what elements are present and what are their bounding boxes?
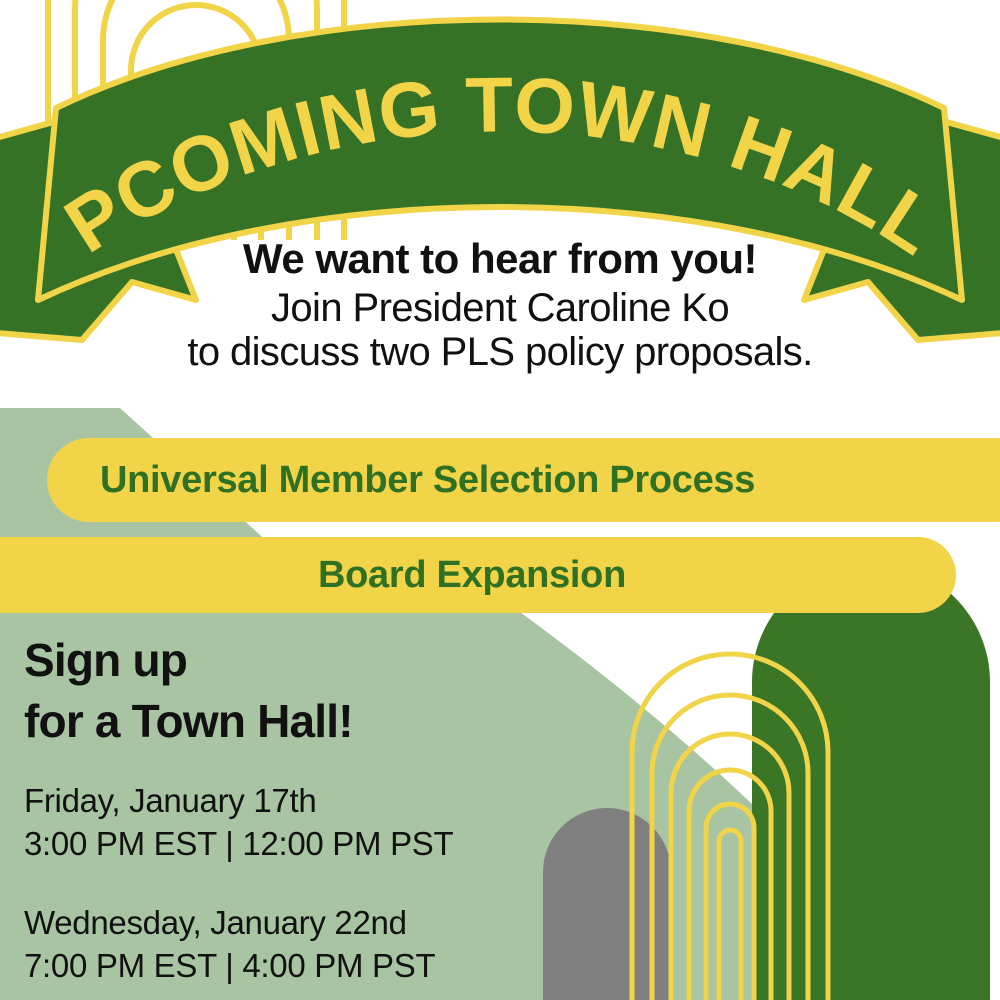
intro-copy-block: We want to hear from you! Join President…	[0, 236, 1000, 374]
topic-pill-label: Board Expansion	[318, 554, 626, 597]
intro-subline-1: Join President Caroline Ko	[0, 287, 1000, 330]
poster-canvas: UPCOMING TOWN HALLS We want to hear from…	[0, 0, 1000, 1000]
signup-heading-block: Sign up for a Town Hall!	[24, 630, 644, 751]
intro-headline: We want to hear from you!	[0, 236, 1000, 281]
session-spacer	[24, 866, 664, 902]
topic-pill-label: Universal Member Selection Process	[100, 459, 755, 502]
topic-pill-board-expansion[interactable]: Board Expansion	[0, 537, 956, 613]
session-2-date: Wednesday, January 22nd	[24, 902, 664, 945]
topic-pill-universal-member-selection-process[interactable]: Universal Member Selection Process	[47, 438, 1000, 522]
signup-heading-line-1: Sign up	[24, 630, 644, 691]
session-2-times: 7:00 PM EST | 4:00 PM PST	[24, 945, 664, 988]
session-1-times: 3:00 PM EST | 12:00 PM PST	[24, 823, 664, 866]
intro-subline-2: to discuss two PLS policy proposals.	[0, 331, 1000, 374]
session-1-date: Friday, January 17th	[24, 780, 664, 823]
signup-heading-line-2: for a Town Hall!	[24, 691, 644, 752]
session-list: Friday, January 17th 3:00 PM EST | 12:00…	[24, 780, 664, 988]
